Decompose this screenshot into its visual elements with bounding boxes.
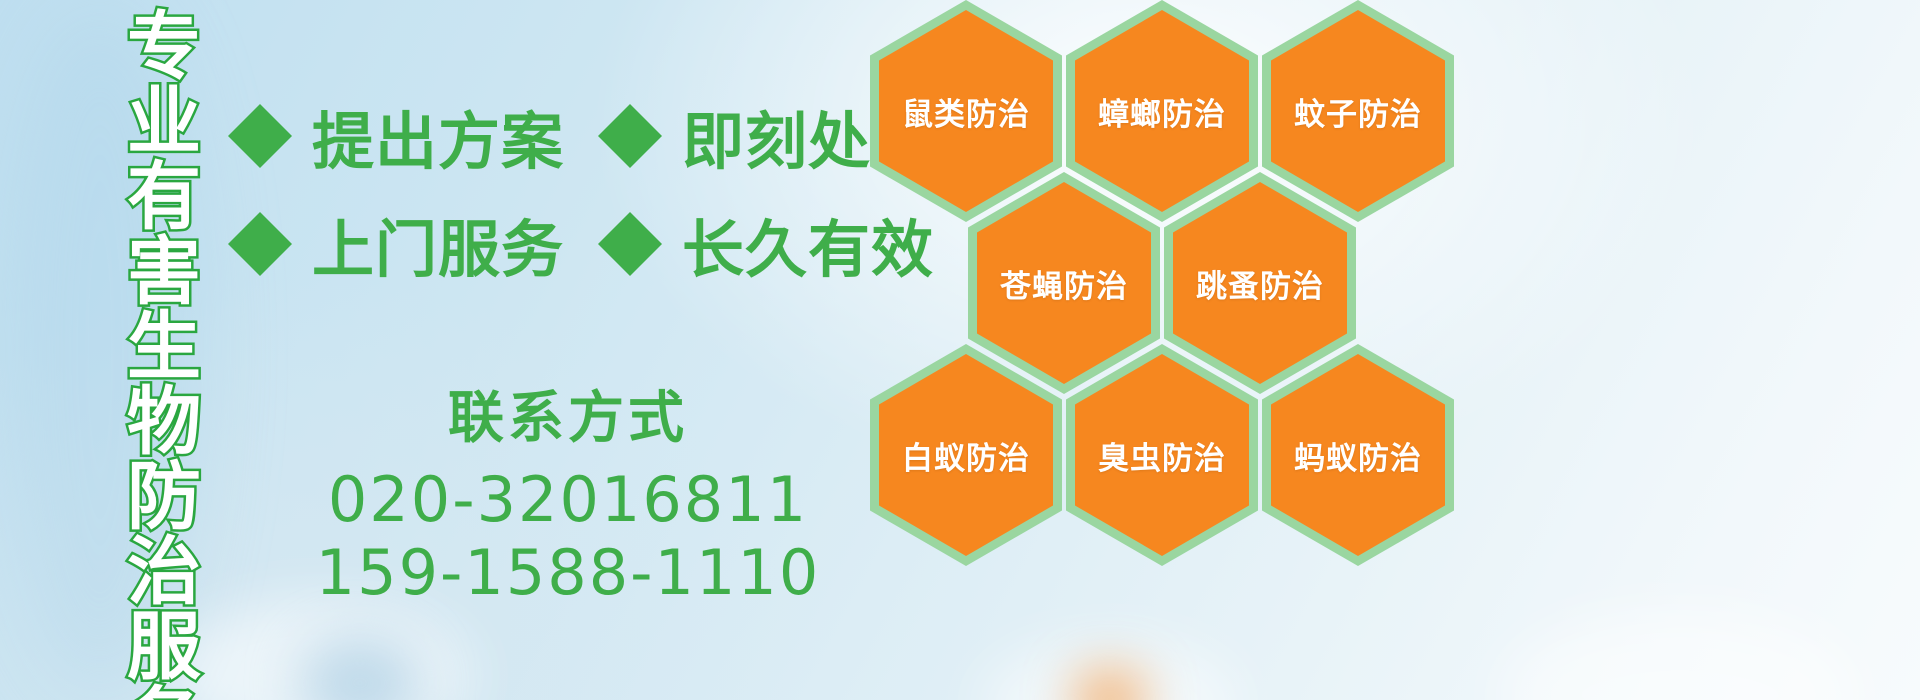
feature-row: 上门服务 长久有效 <box>228 190 868 298</box>
vertical-headline-char: 防 <box>127 460 201 535</box>
vertical-headline-char: 物 <box>127 385 201 460</box>
service-hex-label: 蟑螂防治 <box>1098 89 1226 134</box>
contact-phone-landline[interactable]: 020-32016811 <box>268 463 868 536</box>
service-hex-label: 蚊子防治 <box>1294 89 1422 134</box>
service-hex-termite[interactable]: 白蚁防治 <box>870 344 1062 566</box>
service-hex-ant[interactable]: 蚂蚁防治 <box>1262 344 1454 566</box>
diamond-bullet-icon <box>598 72 662 136</box>
service-hex-label: 蚂蚁防治 <box>1294 433 1422 478</box>
vertical-headline-char: 专 <box>127 10 201 85</box>
contact-heading: 联系方式 <box>268 390 868 449</box>
contact-phone-mobile[interactable]: 159-1588-1110 <box>268 536 868 609</box>
diamond-bullet-icon <box>228 180 292 244</box>
contact-block: 联系方式 020-32016811 159-1588-1110 <box>268 390 868 609</box>
vertical-headline-char: 害 <box>127 235 201 310</box>
service-hex-bedbug[interactable]: 臭虫防治 <box>1066 344 1258 566</box>
background-blur-c <box>980 640 1240 700</box>
vertical-headline-char: 治 <box>127 535 201 610</box>
diamond-bullet-icon <box>598 180 662 244</box>
diamond-bullet-icon <box>228 72 292 136</box>
feature-list: 提出方案 即刻处理 上门服务 长久有效 <box>228 82 868 298</box>
background-blur-orange <box>1075 672 1145 700</box>
background-blur-d <box>1500 610 1860 700</box>
vertical-headline-char: 有 <box>127 160 201 235</box>
background-blur-b <box>300 638 420 700</box>
service-hex-label: 白蚁防治 <box>902 433 1030 478</box>
service-hex-label: 臭虫防治 <box>1098 433 1226 478</box>
feature-row: 提出方案 即刻处理 <box>228 82 868 190</box>
service-hex-label: 跳蚤防治 <box>1196 261 1324 306</box>
vertical-headline-char: 业 <box>127 85 201 160</box>
feature-label: 上门服务 <box>312 199 564 289</box>
feature-item-proposal: 提出方案 <box>228 91 564 181</box>
feature-item-onsite: 上门服务 <box>228 199 564 289</box>
service-hex-label: 鼠类防治 <box>902 89 1030 134</box>
vertical-headline-char: 务 <box>127 685 201 700</box>
vertical-headline: 专 业 有 害 生 物 防 治 服 务 <box>108 10 220 690</box>
service-honeycomb: 鼠类防治 蟑螂防治 蚊子防治 苍蝇防治 跳蚤防治 白蚁防治 <box>858 0 1478 632</box>
vertical-headline-char: 服 <box>127 610 201 685</box>
feature-label: 提出方案 <box>312 91 564 181</box>
service-hex-label: 苍蝇防治 <box>1000 261 1128 306</box>
vertical-headline-char: 生 <box>127 310 201 385</box>
promo-banner: 专 业 有 害 生 物 防 治 服 务 提出方案 即刻处理 上门服务 <box>0 0 1920 700</box>
